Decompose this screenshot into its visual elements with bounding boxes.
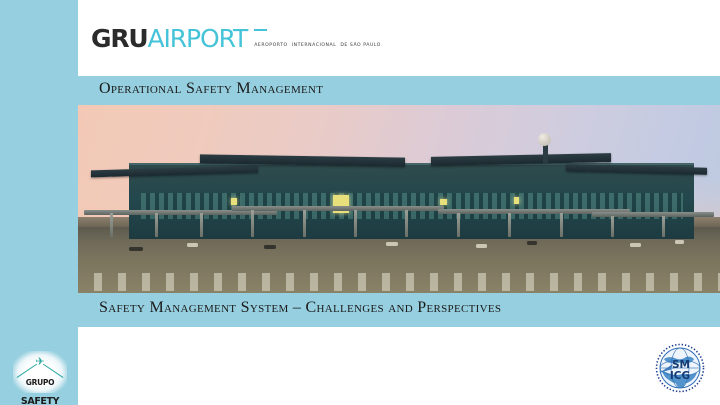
globe-icon: SM ICG [655,343,705,393]
lit-window [514,197,519,204]
logo-tagline-line-2: INTERNACIONAL [292,43,337,48]
sm-icg-logo: SM ICG [655,343,705,393]
grupo-safety-line-2: SAFETY [21,396,59,405]
left-accent-band [0,0,78,405]
presentation-slide: GRU AIRPORT AEROPORTO INTERNACIONAL DE S… [0,0,720,405]
logo-airport-text: AIRPORT [147,26,247,51]
canopy-column [611,216,614,237]
logo-gru-text: GRU [91,26,147,51]
canopy-column [110,213,113,237]
radar-dome-icon [538,133,551,146]
canopy-column [405,210,408,237]
apron-markings [78,273,720,291]
logo-rule [254,29,267,31]
slide-subtitle: Safety Management System – Challenges an… [99,299,501,317]
canopy-column [354,210,357,237]
logo-band: GRU AIRPORT AEROPORTO INTERNACIONAL DE S… [78,0,720,76]
canopy-column [508,213,511,237]
subtitle-band: Safety Management System – Challenges an… [78,293,720,327]
canopy-column [251,210,254,237]
vehicle [187,243,198,247]
terminal-building [129,163,694,239]
gru-airport-logo: GRU AIRPORT AEROPORTO INTERNACIONAL DE S… [91,26,381,51]
canopy-column [303,210,306,237]
vehicle [129,247,143,251]
title-band: Operational Safety Management [78,76,720,105]
control-tower-mast [543,143,548,163]
logo-tagline-line-3: DE SÃO PAULO [340,43,381,48]
canopy-column [155,213,158,237]
vehicle [476,244,487,248]
airplane-icon: ✈ [35,357,44,368]
canopy-column [457,213,460,237]
slide-title: Operational Safety Management [99,80,323,98]
vehicle [630,243,641,247]
vehicle [527,241,537,245]
vehicle [264,245,276,249]
logo-tagline-line-1: AEROPORTO [254,43,287,48]
canopy-column [200,213,203,237]
grupo-safety-logo: ✈ GRUPO SAFETY [13,351,67,393]
sm-icg-line-2: ICG [670,370,690,382]
canopy-column [662,216,665,237]
grupo-safety-wordmark: GRUPO SAFETY [13,370,67,405]
grupo-safety-line-1: GRUPO [26,378,54,387]
lit-window [231,198,237,205]
logo-tagline: AEROPORTO INTERNACIONAL DE SÃO PAULO [254,29,381,51]
canopy-column [560,213,563,237]
vehicle [386,242,398,246]
curbside-canopy-center [232,206,444,211]
lit-window [440,199,447,205]
footer-area [78,327,720,405]
vehicle [675,240,684,244]
airport-photo [78,105,720,293]
